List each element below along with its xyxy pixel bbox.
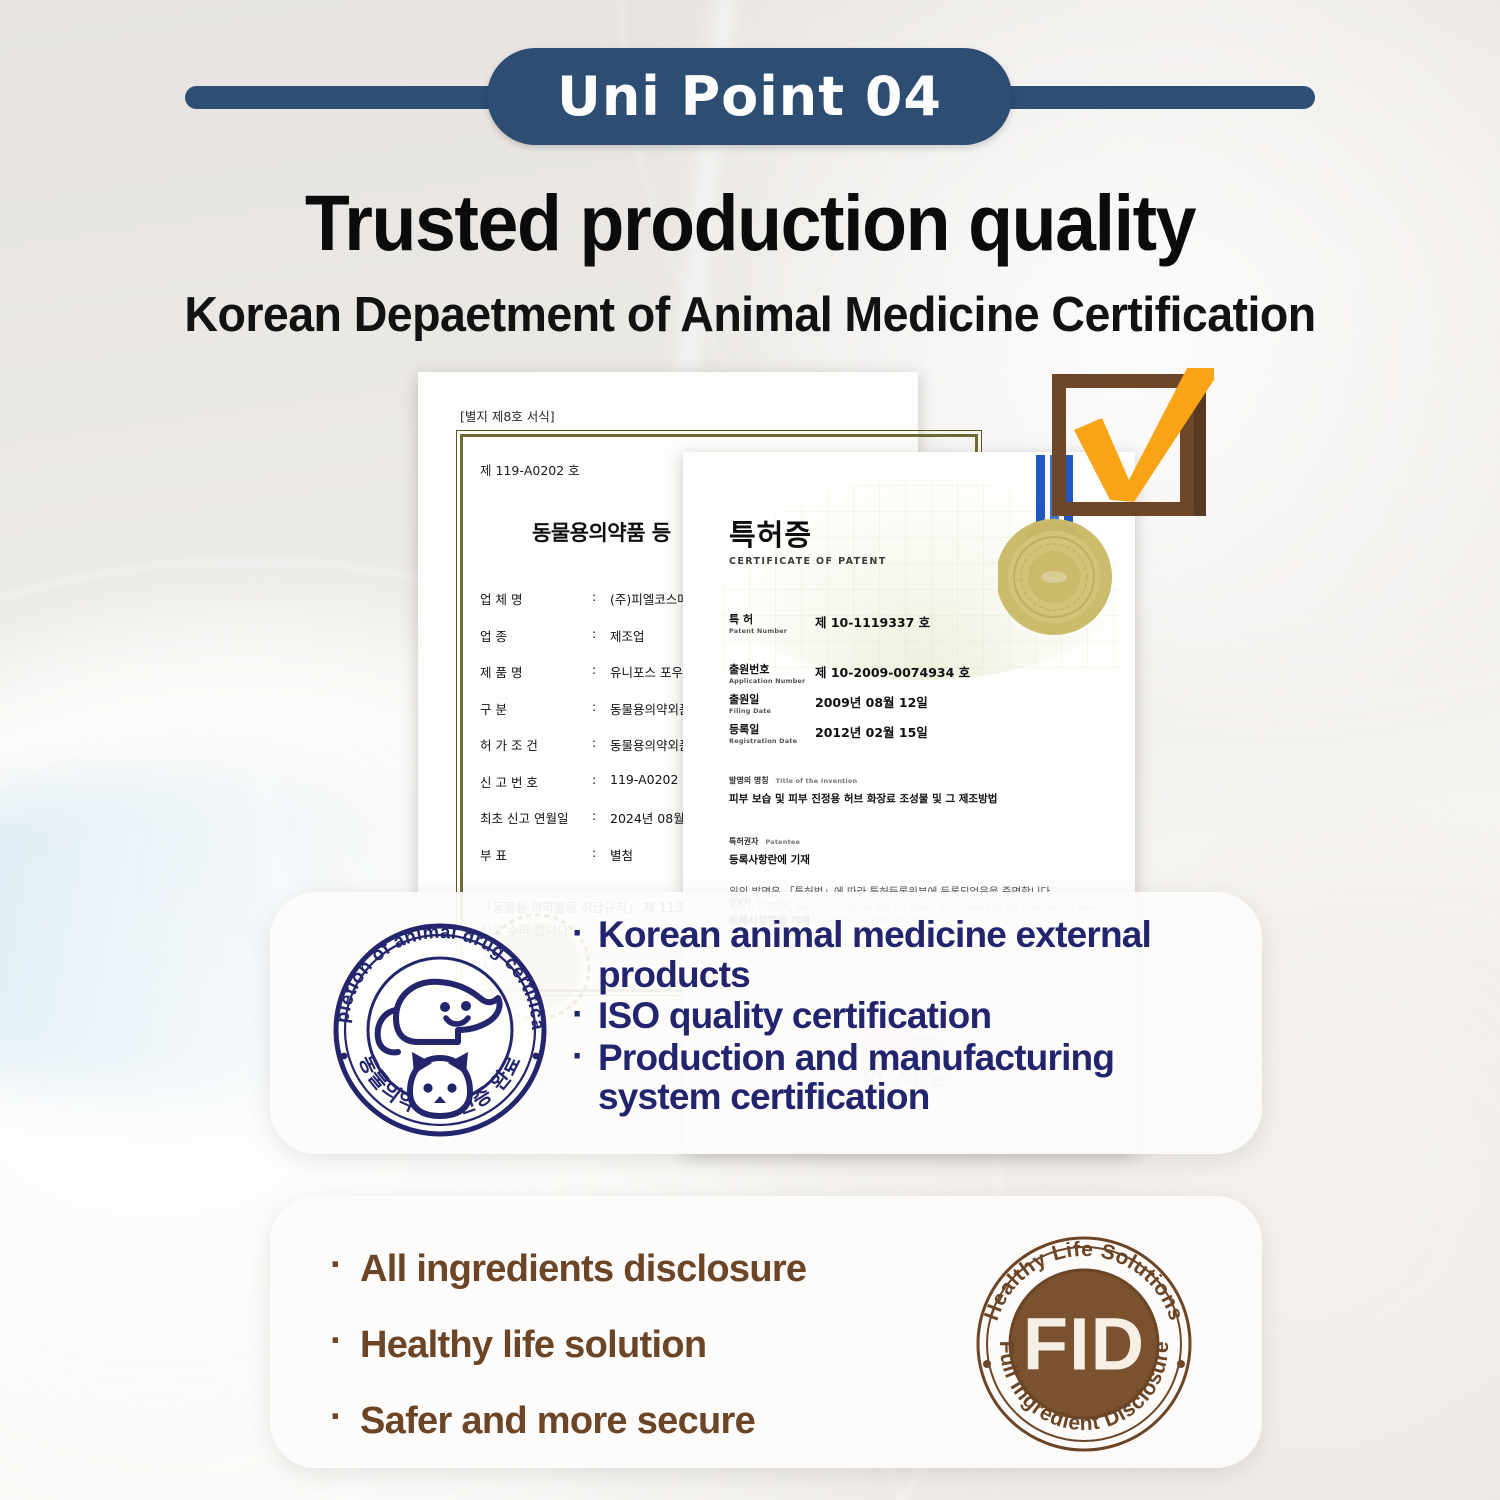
patent-invention-caption: 발명의 명칭Title of the Invention xyxy=(729,775,1101,786)
animal-drug-certification-seal: Completion of animal drug certification … xyxy=(318,906,562,1146)
patent-field-label: 출원일 Filing Date xyxy=(729,691,815,715)
patent-field-value: 2009년 08월 12일 xyxy=(815,691,928,711)
declaration-row-key: 최초 신고 연월일 xyxy=(480,808,592,827)
patent-field-label-ko: 출원번호 xyxy=(729,661,815,677)
checkbox-check-icon xyxy=(1044,368,1214,528)
declaration-row-value: (주)피엘코스메 xyxy=(610,589,689,608)
patent-patentee-caption-ko: 특허권자 xyxy=(729,837,758,846)
declaration-row-value: 119-A0202 xyxy=(610,772,678,791)
declaration-row-value: 제조업 xyxy=(610,626,645,645)
declaration-row-key: 업 종 xyxy=(480,626,592,645)
patent-field-value: 제 10-1119337 호 xyxy=(815,611,930,631)
declaration-row-value: 유니포스 포우 xyxy=(610,662,683,681)
patent-field-row: 출원일 Filing Date 2009년 08월 12일 xyxy=(729,691,1101,715)
patent-field-label-en: Patent Number xyxy=(729,627,815,635)
declaration-row-value: 별첨 xyxy=(610,845,633,864)
declaration-row-key: 신 고 번 호 xyxy=(480,772,592,791)
patent-field-value: 제 10-2009-0074934 호 xyxy=(815,661,970,681)
patent-invention-value: 피부 보습 및 피부 진정용 허브 화장료 조성물 및 그 제조방법 xyxy=(729,791,1101,806)
patent-field-label: 특 허 Patent Number xyxy=(729,611,815,635)
patent-field-label: 등록일 Registration Date xyxy=(729,721,815,745)
patent-field-label-en: Application Number xyxy=(729,677,815,685)
fid-seal: Healthy Life Solutions Full Ingredient D… xyxy=(968,1228,1200,1460)
declaration-row-colon: : xyxy=(592,589,610,608)
declaration-row-colon: : xyxy=(592,808,610,827)
top-card-benefit-list: Korean animal medicine external products… xyxy=(572,915,1232,1119)
spacer xyxy=(729,641,1101,655)
patent-field-label-en: Registration Date xyxy=(729,737,815,745)
patent-invention-caption-ko: 발명의 명칭 xyxy=(729,776,769,785)
list-item: Production and manufacturing system cert… xyxy=(572,1038,1232,1117)
declaration-row-colon: : xyxy=(592,735,610,754)
declaration-row-value: 동물용의약외품 xyxy=(610,735,691,754)
patent-field-label: 출원번호 Application Number xyxy=(729,661,815,685)
bottom-card-benefit-list: All ingredients disclosure Healthy life … xyxy=(330,1250,930,1478)
patent-invention-block: 발명의 명칭Title of the Invention 피부 보습 및 피부 … xyxy=(729,775,1101,806)
list-item: Healthy life solution xyxy=(330,1326,930,1364)
patent-field-value: 2012년 02월 15일 xyxy=(815,721,928,741)
declaration-row-colon: : xyxy=(592,772,610,791)
svg-text:FID: FID xyxy=(1023,1303,1145,1386)
patent-invention-caption-en: Title of the Invention xyxy=(776,777,858,785)
patent-patentee-block: 특허권자Patentee 등록사항란에 기재 xyxy=(729,836,1101,867)
patent-patentee-caption: 특허권자Patentee xyxy=(729,836,1101,847)
declaration-row-key: 제 품 명 xyxy=(480,662,592,681)
declaration-row-colon: : xyxy=(592,626,610,645)
declaration-row-colon: : xyxy=(592,845,610,864)
patent-field-row: 출원번호 Application Number 제 10-2009-007493… xyxy=(729,661,1101,685)
declaration-form-code: [별지 제8호 서식] xyxy=(460,406,888,425)
declaration-row-key: 허 가 조 건 xyxy=(480,735,592,754)
patent-field-label-ko: 출원일 xyxy=(729,691,815,707)
list-item: All ingredients disclosure xyxy=(330,1250,930,1288)
patent-field-row: 등록일 Registration Date 2012년 02월 15일 xyxy=(729,721,1101,745)
declaration-row-key: 구 분 xyxy=(480,699,592,718)
list-item: Korean animal medicine external products xyxy=(572,915,1232,994)
declaration-row-key: 업 체 명 xyxy=(480,589,592,608)
list-item: Safer and more secure xyxy=(330,1402,930,1440)
patent-patentee-caption-en: Patentee xyxy=(765,838,800,846)
declaration-row-colon: : xyxy=(592,662,610,681)
patent-field-label-en: Filing Date xyxy=(729,707,815,715)
declaration-title: 동물용의약품 등 xyxy=(532,517,671,547)
declaration-row-key: 부 표 xyxy=(480,845,592,864)
declaration-row-value: 동물용의약외품 xyxy=(610,699,691,718)
patent-field-label-ko: 등록일 xyxy=(729,721,815,737)
patent-field-label-ko: 특 허 xyxy=(729,611,815,627)
declaration-row-colon: : xyxy=(592,699,610,718)
patent-patentee-value: 등록사항란에 기재 xyxy=(729,852,1101,867)
list-item: ISO quality certification xyxy=(572,996,1232,1036)
